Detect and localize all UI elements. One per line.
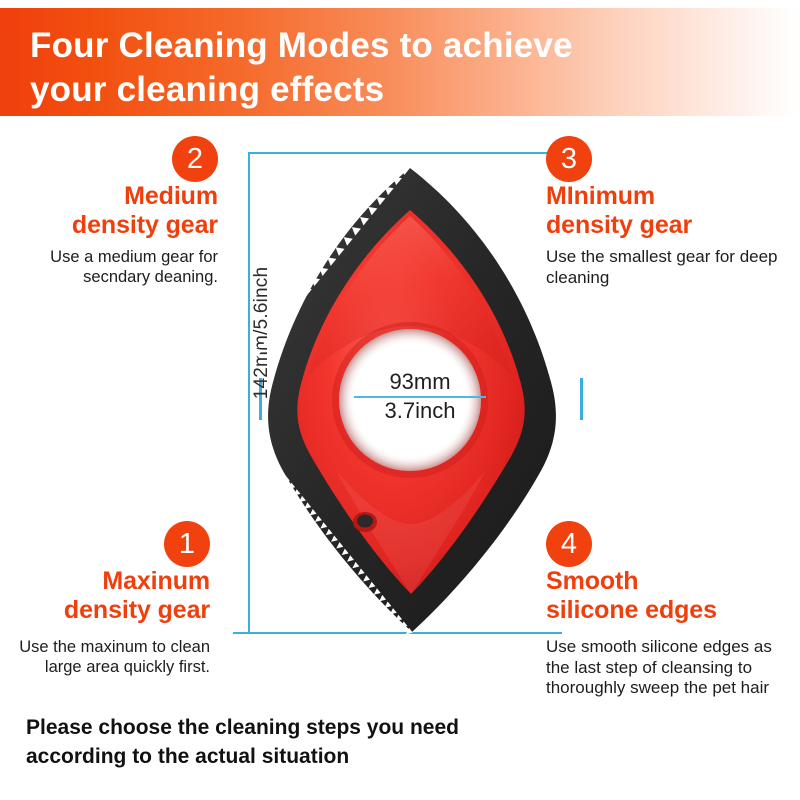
callout-title-4: Smooth silicone edges [546,567,798,625]
callout-title-2: Medium density gear [0,182,218,240]
footer-note: Please choose the cleaning steps you nee… [26,714,566,772]
callout-badge-2: 2 [172,136,218,182]
header-title-line2: your cleaning effects [30,68,730,112]
hole-dimension-label: 93mm 3.7inch [345,370,495,423]
callout-body-1: Use the maxinum to clean large area quic… [0,637,210,677]
callout-title-2-line2: density gear [0,211,218,240]
callout-minimum-density: 3 MInimum density gear Use the smallest … [546,136,796,288]
callout-badge-1: 1 [164,521,210,567]
callout-title-3-line1: MInimum [546,182,796,211]
callout-title-4-line1: Smooth [546,567,798,596]
hole-dimension-mm: 93mm [345,370,495,395]
infographic-page: Four Cleaning Modes to achieve your clea… [0,0,800,800]
hole-dimension-inch: 3.7inch [345,399,495,424]
callout-title-4-line2: silicone edges [546,596,798,625]
callout-badge-4: 4 [546,521,592,567]
callout-body-2: Use a medium gear for secndary deaning. [0,247,218,287]
callout-title-3: MInimum density gear [546,182,796,240]
callout-smooth-edges: 4 Smooth silicone edges Use smooth silic… [546,521,798,699]
callout-maximum-density: 1 Maxinum density gear Use the maxinum t… [0,521,210,677]
callout-title-1-line2: density gear [0,596,210,625]
callout-medium-density: 2 Medium density gear Use a medium gear … [0,136,218,287]
callout-title-2-line1: Medium [0,182,218,211]
footer-note-line2: according to the actual situation [26,743,566,772]
callout-title-1-line1: Maxinum [0,567,210,596]
page-title: Four Cleaning Modes to achieve your clea… [30,24,730,112]
callout-body-4: Use smooth silicone edges as the last st… [546,637,798,699]
callout-badge-3: 3 [546,136,592,182]
eyelet-hole [357,515,373,528]
callout-title-1: Maxinum density gear [0,567,210,625]
callout-body-3: Use the smallest gear for deep cleaning [546,247,796,288]
footer-note-line1: Please choose the cleaning steps you nee… [26,716,459,739]
callout-title-3-line2: density gear [546,211,796,240]
header-banner: Four Cleaning Modes to achieve your clea… [0,8,800,116]
header-title-line1: Four Cleaning Modes to achieve [30,26,573,65]
